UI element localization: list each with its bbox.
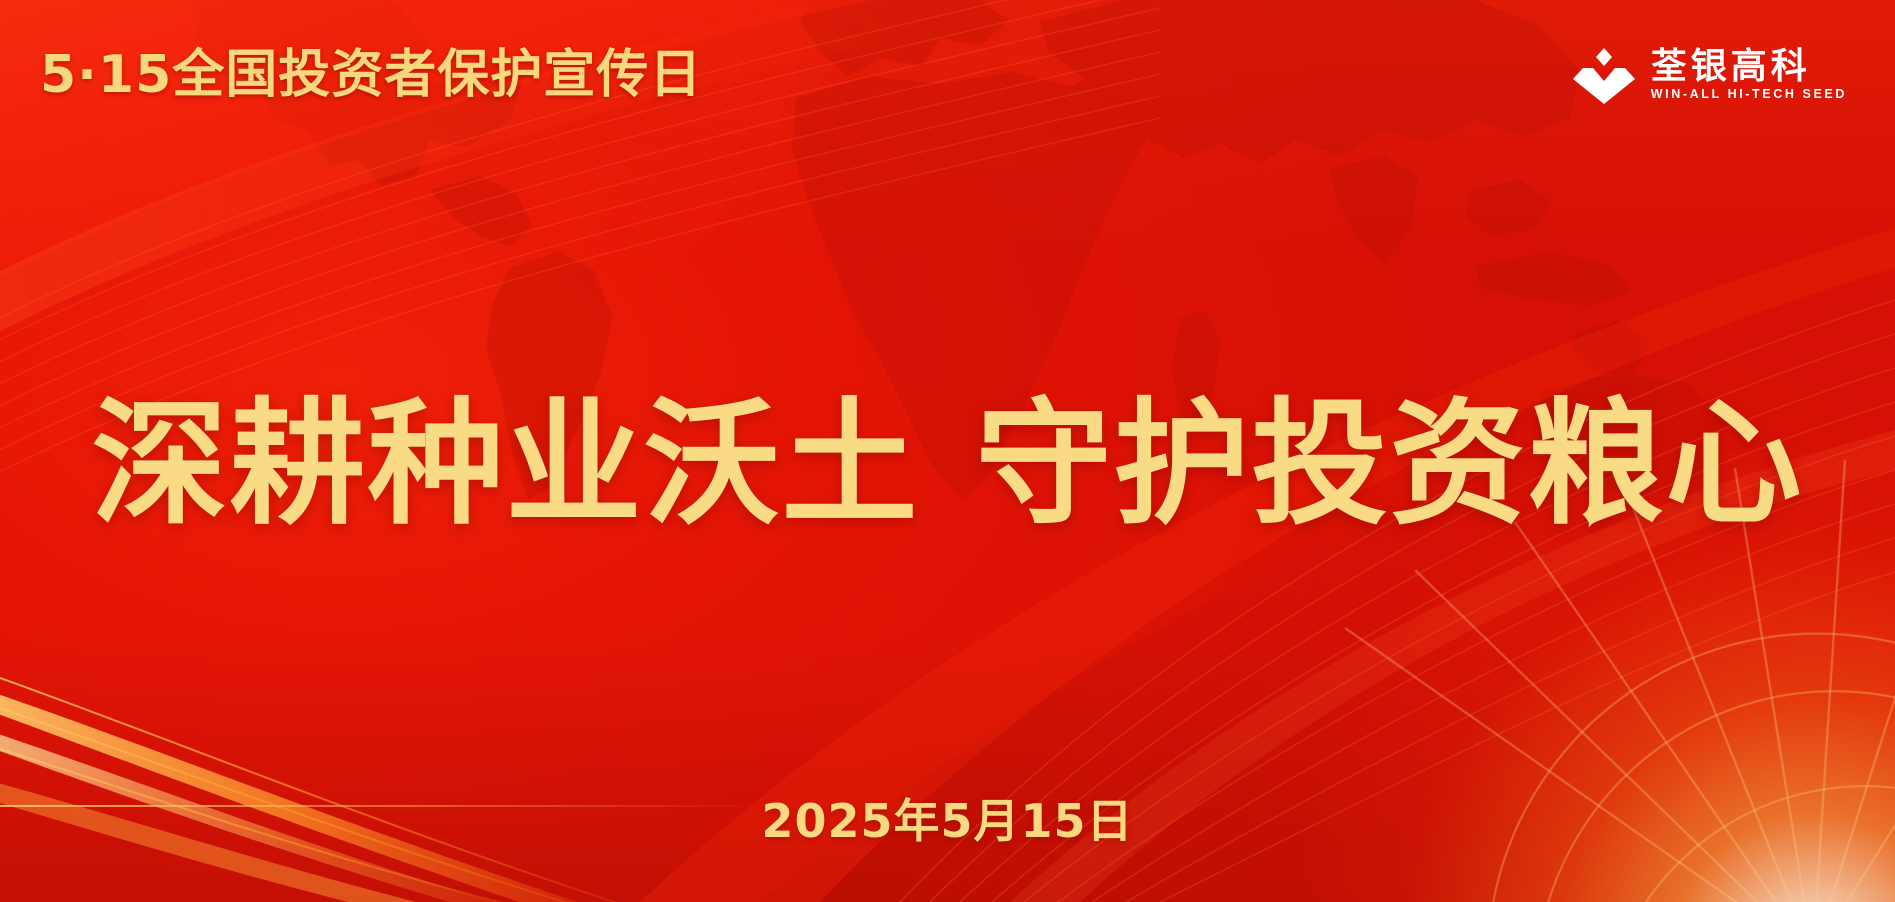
headline-part-2: 守护投资粮心 <box>976 386 1804 544</box>
event-date: 2025年5月15日 <box>761 798 1133 844</box>
headline-part-1: 深耕种业沃土 <box>92 386 920 544</box>
logo-name-cn: 荃银高科 <box>1651 49 1847 85</box>
logo-name-en: WIN-ALL HI-TECH SEED <box>1651 88 1847 101</box>
campaign-kicker: 5·15全国投资者保护宣传日 <box>40 49 702 101</box>
headline-container: 深耕种业沃土守护投资粮心 <box>0 392 1895 539</box>
banner-header: 5·15全国投资者保护宣传日 荃银高科 WIN-ALL HI-TECH SEED <box>0 0 1895 150</box>
banner-headline: 深耕种业沃土守护投资粮心 <box>92 392 1804 539</box>
date-container: 2025年5月15日 <box>0 798 1895 844</box>
investor-protection-day-banner: 5·15全国投资者保护宣传日 荃银高科 WIN-ALL HI-TECH SEED… <box>0 0 1895 902</box>
company-logo: 荃银高科 WIN-ALL HI-TECH SEED <box>1573 46 1847 104</box>
logo-text-block: 荃银高科 WIN-ALL HI-TECH SEED <box>1651 49 1847 101</box>
winall-chevron-logo-icon <box>1573 46 1635 104</box>
